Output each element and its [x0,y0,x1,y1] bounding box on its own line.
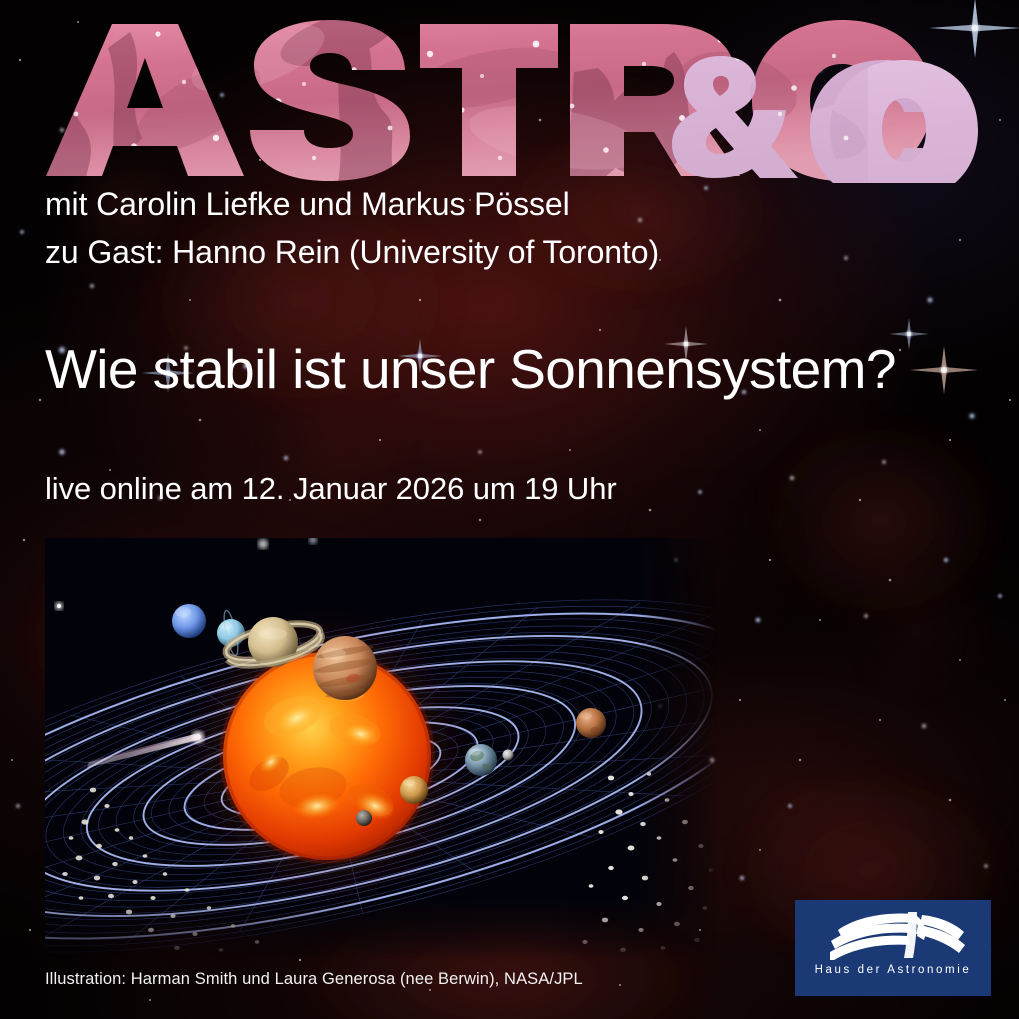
solar-system-artwork [45,538,717,958]
moon [503,750,514,761]
distant-star [55,602,63,610]
presenters-line: mit Carolin Liefke und Markus Pössel [45,186,570,223]
solar-system-illustration [45,538,717,958]
planet-mars [576,708,606,738]
guest-line: zu Gast: Hanno Rein (University of Toron… [45,234,659,271]
planet-venus [400,776,428,804]
planet-mercury [356,810,372,826]
title-artwork [38,18,998,183]
datetime-line: live online am 12. Januar 2026 um 19 Uhr [45,471,617,507]
planet-jupiter [313,636,377,700]
poster-canvas: mit Carolin Liefke und Markus Pössel zu … [0,0,1019,1019]
haus-der-astronomie-logo: Haus der Astronomie [795,900,991,996]
logo-label: Haus der Astronomie [815,964,972,976]
headline: Wie stabil ist unser Sonnensystem? [45,337,896,401]
planet-neptune [172,604,206,638]
poster-title [38,18,998,183]
title-word-and-co [672,56,978,183]
illustration-credit: Illustration: Harman Smith und Laura Gen… [45,970,583,989]
haus-der-astronomie-building-icon [818,908,968,960]
title-word-astro [46,20,932,181]
planet-earth [465,744,497,776]
